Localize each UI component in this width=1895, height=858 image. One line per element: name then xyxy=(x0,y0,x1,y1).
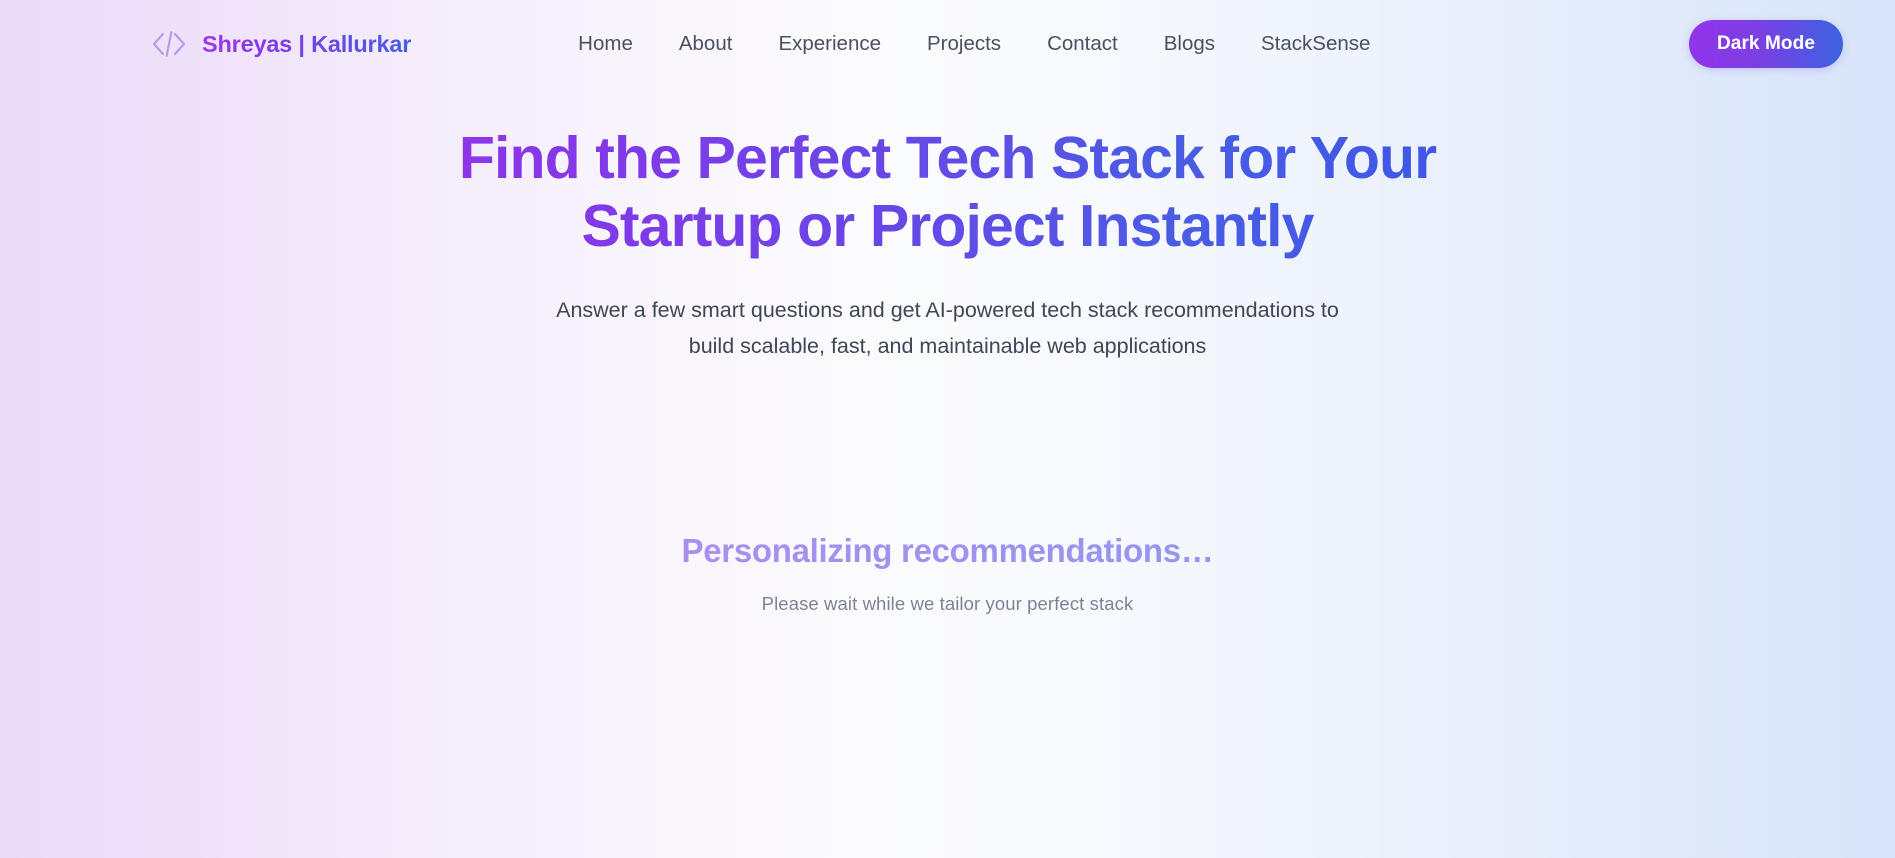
nav-link-about[interactable]: About xyxy=(656,24,756,64)
hero-section: Find the Perfect Tech Stack for Your Sta… xyxy=(0,88,1895,615)
nav-link-contact[interactable]: Contact xyxy=(1024,24,1141,64)
hero-subtitle: Answer a few smart questions and get AI-… xyxy=(542,292,1354,364)
nav-link-blogs[interactable]: Blogs xyxy=(1141,24,1238,64)
nav-item-experience: Experience xyxy=(755,24,904,64)
nav-item-about: About xyxy=(656,24,756,64)
nav-item-stacksense: StackSense xyxy=(1238,24,1393,64)
nav-link-projects[interactable]: Projects xyxy=(904,24,1024,64)
primary-navigation: Home About Experience Projects Contact B… xyxy=(411,24,1393,64)
nav-item-projects: Projects xyxy=(904,24,1024,64)
brand-logo-link[interactable]: Shreyas | Kallurkar xyxy=(152,29,411,59)
nav-link-stacksense[interactable]: StackSense xyxy=(1238,24,1393,64)
loading-status-section: Personalizing recommendations… Please wa… xyxy=(0,532,1895,615)
page-title: Find the Perfect Tech Stack for Your Sta… xyxy=(373,124,1523,261)
nav-item-contact: Contact xyxy=(1024,24,1141,64)
dark-mode-toggle-button[interactable]: Dark Mode xyxy=(1689,20,1843,68)
loading-hint-text: Please wait while we tailor your perfect… xyxy=(0,593,1895,615)
nav-item-home: Home xyxy=(555,24,656,64)
nav-list: Home About Experience Projects Contact B… xyxy=(555,24,1393,64)
nav-item-blogs: Blogs xyxy=(1141,24,1238,64)
brand-name: Shreyas | Kallurkar xyxy=(202,31,411,58)
nav-link-home[interactable]: Home xyxy=(555,24,656,64)
nav-link-experience[interactable]: Experience xyxy=(755,24,904,64)
code-brackets-icon xyxy=(152,29,186,59)
site-header: Shreyas | Kallurkar Home About Experienc… xyxy=(0,0,1895,88)
loading-status-text: Personalizing recommendations… xyxy=(0,532,1895,570)
